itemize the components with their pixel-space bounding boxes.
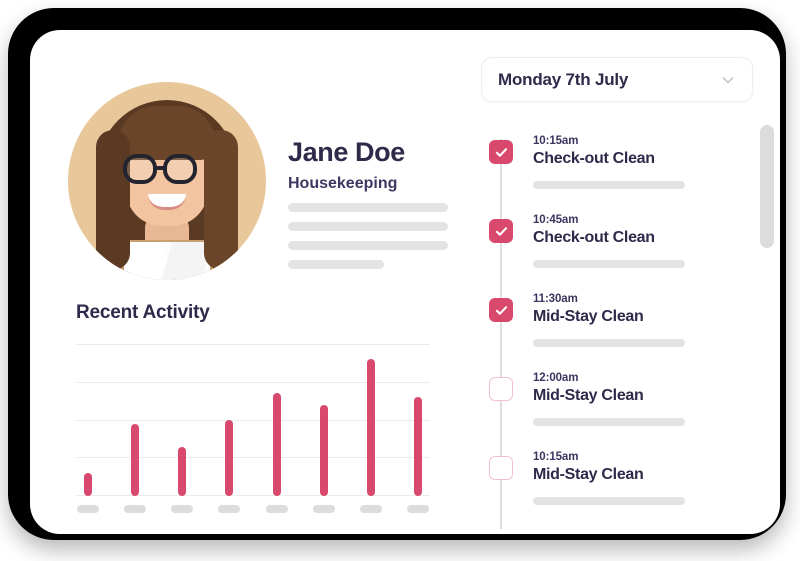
task-time: 10:45am xyxy=(533,214,753,226)
avatar-hair-top xyxy=(118,106,216,160)
chart-x-label-placeholder xyxy=(124,505,146,513)
avatar-hair-left xyxy=(96,130,130,270)
task-list: 10:15amCheck-out Clean10:45amCheck-out C… xyxy=(481,123,753,534)
chart-bar xyxy=(178,447,186,496)
task-title: Mid-Stay Clean xyxy=(533,308,753,326)
check-icon xyxy=(494,303,509,318)
avatar-hair-right xyxy=(204,130,238,270)
task-list-item[interactable]: 11:30amMid-Stay Clean xyxy=(481,281,753,360)
task-list-item[interactable]: 12:00amMid-Stay Clean xyxy=(481,360,753,439)
device-frame: Jane Doe Housekeeping Recent Activity Mo… xyxy=(8,8,786,540)
chart-bar xyxy=(131,424,139,496)
chart-x-label-placeholder xyxy=(218,505,240,513)
profile-placeholder-line xyxy=(288,241,448,250)
task-time: 12:00am xyxy=(533,372,753,384)
chart-plot-area xyxy=(76,344,430,496)
profile-placeholder-line xyxy=(288,222,448,231)
chart-bar xyxy=(414,397,422,496)
task-description-placeholder xyxy=(533,497,685,505)
task-body: 10:45amCheck-out Clean xyxy=(533,214,753,268)
chart-x-label-placeholder xyxy=(266,505,288,513)
avatar xyxy=(68,82,266,280)
task-body: 11:30amMid-Stay Clean xyxy=(533,293,753,347)
check-icon xyxy=(494,145,509,160)
task-description-placeholder xyxy=(533,260,685,268)
chart-bar xyxy=(225,420,233,496)
profile-placeholder-line xyxy=(288,260,384,269)
task-description-placeholder xyxy=(533,418,685,426)
chart-x-axis-labels xyxy=(76,505,430,513)
task-body: 12:00amMid-Stay Clean xyxy=(533,372,753,426)
chart-x-label-placeholder xyxy=(407,505,429,513)
profile-name: Jane Doe xyxy=(288,138,458,168)
avatar-glasses-bridge xyxy=(156,166,166,170)
task-body: 10:15amCheck-out Clean xyxy=(533,135,753,189)
task-body: 10:15amMid-Stay Clean xyxy=(533,451,753,505)
profile-placeholder-line xyxy=(288,203,448,212)
task-list-item[interactable]: 10:15amMid-Stay Clean xyxy=(481,439,753,518)
task-description-placeholder xyxy=(533,181,685,189)
scrollbar-track[interactable] xyxy=(760,123,774,534)
task-title: Check-out Clean xyxy=(533,229,753,247)
profile-role: Housekeeping xyxy=(288,175,458,193)
chart-bar xyxy=(84,473,92,496)
date-selector-value: Monday 7th July xyxy=(498,70,720,90)
task-checkbox-checked[interactable] xyxy=(489,219,513,243)
task-list-item[interactable]: 10:45amCheck-out Clean xyxy=(481,202,753,281)
chart-x-label-placeholder xyxy=(360,505,382,513)
task-time: 10:15am xyxy=(533,451,753,463)
recent-activity-chart: Recent Activity xyxy=(76,302,446,513)
schedule-panel: Monday 7th July 10:15amCheck-out Clean10… xyxy=(455,30,780,534)
task-time: 11:30am xyxy=(533,293,753,305)
task-checkbox-checked[interactable] xyxy=(489,298,513,322)
task-checkbox-checked[interactable] xyxy=(489,140,513,164)
task-title: Mid-Stay Clean xyxy=(533,387,753,405)
task-title: Mid-Stay Clean xyxy=(533,466,753,484)
chevron-down-icon[interactable] xyxy=(720,72,736,88)
task-list-item[interactable]: 10:15amCheck-out Clean xyxy=(481,123,753,202)
avatar-glasses-right-lens xyxy=(163,154,197,184)
avatar-glasses-left-lens xyxy=(123,154,157,184)
check-icon xyxy=(494,224,509,239)
task-checkbox-unchecked[interactable] xyxy=(489,456,513,480)
task-description-placeholder xyxy=(533,339,685,347)
profile-details: Jane Doe Housekeeping xyxy=(288,138,458,269)
scrollbar-thumb[interactable] xyxy=(760,125,774,248)
chart-bar xyxy=(273,393,281,496)
chart-title: Recent Activity xyxy=(76,302,446,324)
chart-bars xyxy=(76,344,430,496)
chart-x-label-placeholder xyxy=(313,505,335,513)
profile-panel: Jane Doe Housekeeping Recent Activity xyxy=(30,30,455,534)
date-selector[interactable]: Monday 7th July xyxy=(481,57,753,102)
task-time: 10:15am xyxy=(533,135,753,147)
task-checkbox-unchecked[interactable] xyxy=(489,377,513,401)
task-title: Check-out Clean xyxy=(533,150,753,168)
chart-x-label-placeholder xyxy=(77,505,99,513)
chart-x-label-placeholder xyxy=(171,505,193,513)
chart-bar xyxy=(367,359,375,496)
chart-bar xyxy=(320,405,328,496)
app-screen: Jane Doe Housekeeping Recent Activity Mo… xyxy=(30,30,780,534)
